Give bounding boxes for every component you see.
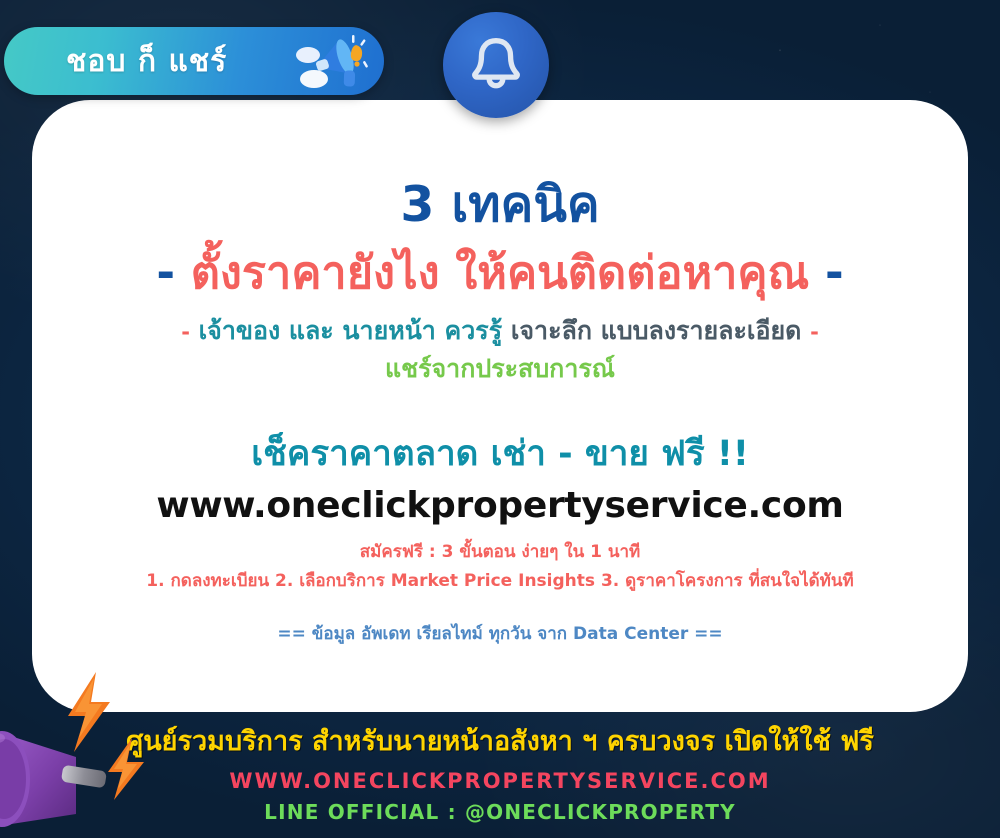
headline-dash-left: - xyxy=(156,246,175,299)
footer-bar: ศูนย์รวมบริการ สำหรับนายหน้าอสังหา ฯ ครบ… xyxy=(0,724,1000,838)
lightning-bolt-icon xyxy=(104,738,148,800)
headline-text: ตั้งราคายังไง ให้คนติดต่อหาคุณ xyxy=(191,246,810,299)
footer-headline: ศูนย์รวมบริการ สำหรับนายหน้าอสังหา ฯ ครบ… xyxy=(0,724,1000,760)
share-badge-label: ชอบ ก็ แชร์ xyxy=(66,38,227,85)
subheading-part-audience: เจ้าของ และ นายหน้า ควรรู้ xyxy=(199,316,503,345)
steps-heading: สมัครฟรี : 3 ขั้นตอน ง่ายๆ ใน 1 นาที xyxy=(32,540,968,566)
subheading-tick-right: - xyxy=(810,320,819,344)
notification-bell-button[interactable] xyxy=(443,12,549,118)
bell-icon xyxy=(465,32,527,98)
heading-count: 3 เทคนิค xyxy=(32,178,968,232)
footer-line-official[interactable]: LINE OFFICIAL : @ONECLICKPROPERTY xyxy=(0,799,1000,826)
footer-url[interactable]: WWW.ONECLICKPROPERTYSERVICE.COM xyxy=(0,767,1000,795)
cta-check-price: เช็คราคาตลาด เช่า - ขาย ฟรี !! xyxy=(32,433,968,477)
card-content: 3 เทคนิค - ตั้งราคายังไง ให้คนติดต่อหาคุ… xyxy=(32,100,968,648)
subheading: - เจ้าของ และ นายหน้า ควรรู้ เจาะลึก แบบ… xyxy=(32,314,968,348)
headline-dash-right: - xyxy=(825,246,844,299)
subheading-part-detail: เจาะลึก แบบลงรายละเอียด xyxy=(511,316,802,345)
datacenter-note: == ข้อมูล อัพเดท เรียลไทม์ ทุกวัน จาก Da… xyxy=(32,622,968,648)
share-badge[interactable]: ชอบ ก็ แชร์ xyxy=(4,27,384,95)
steps-list: 1. กดลงทะเบียน 2. เลือกบริการ Market Pri… xyxy=(32,569,968,595)
megaphone-3d-icon xyxy=(294,33,370,91)
headline: - ตั้งราคายังไง ให้คนติดต่อหาคุณ - xyxy=(32,246,968,300)
subheading-experience: แชร์จากประสบการณ์ xyxy=(32,352,968,386)
subheading-tick-left: - xyxy=(181,320,190,344)
cta-website-url[interactable]: www.oneclickpropertyservice.com xyxy=(32,483,968,528)
poster-root: ชอบ ก็ แชร์ xyxy=(0,0,1000,838)
content-card: 3 เทคนิค - ตั้งราคายังไง ให้คนติดต่อหาคุ… xyxy=(32,100,968,712)
